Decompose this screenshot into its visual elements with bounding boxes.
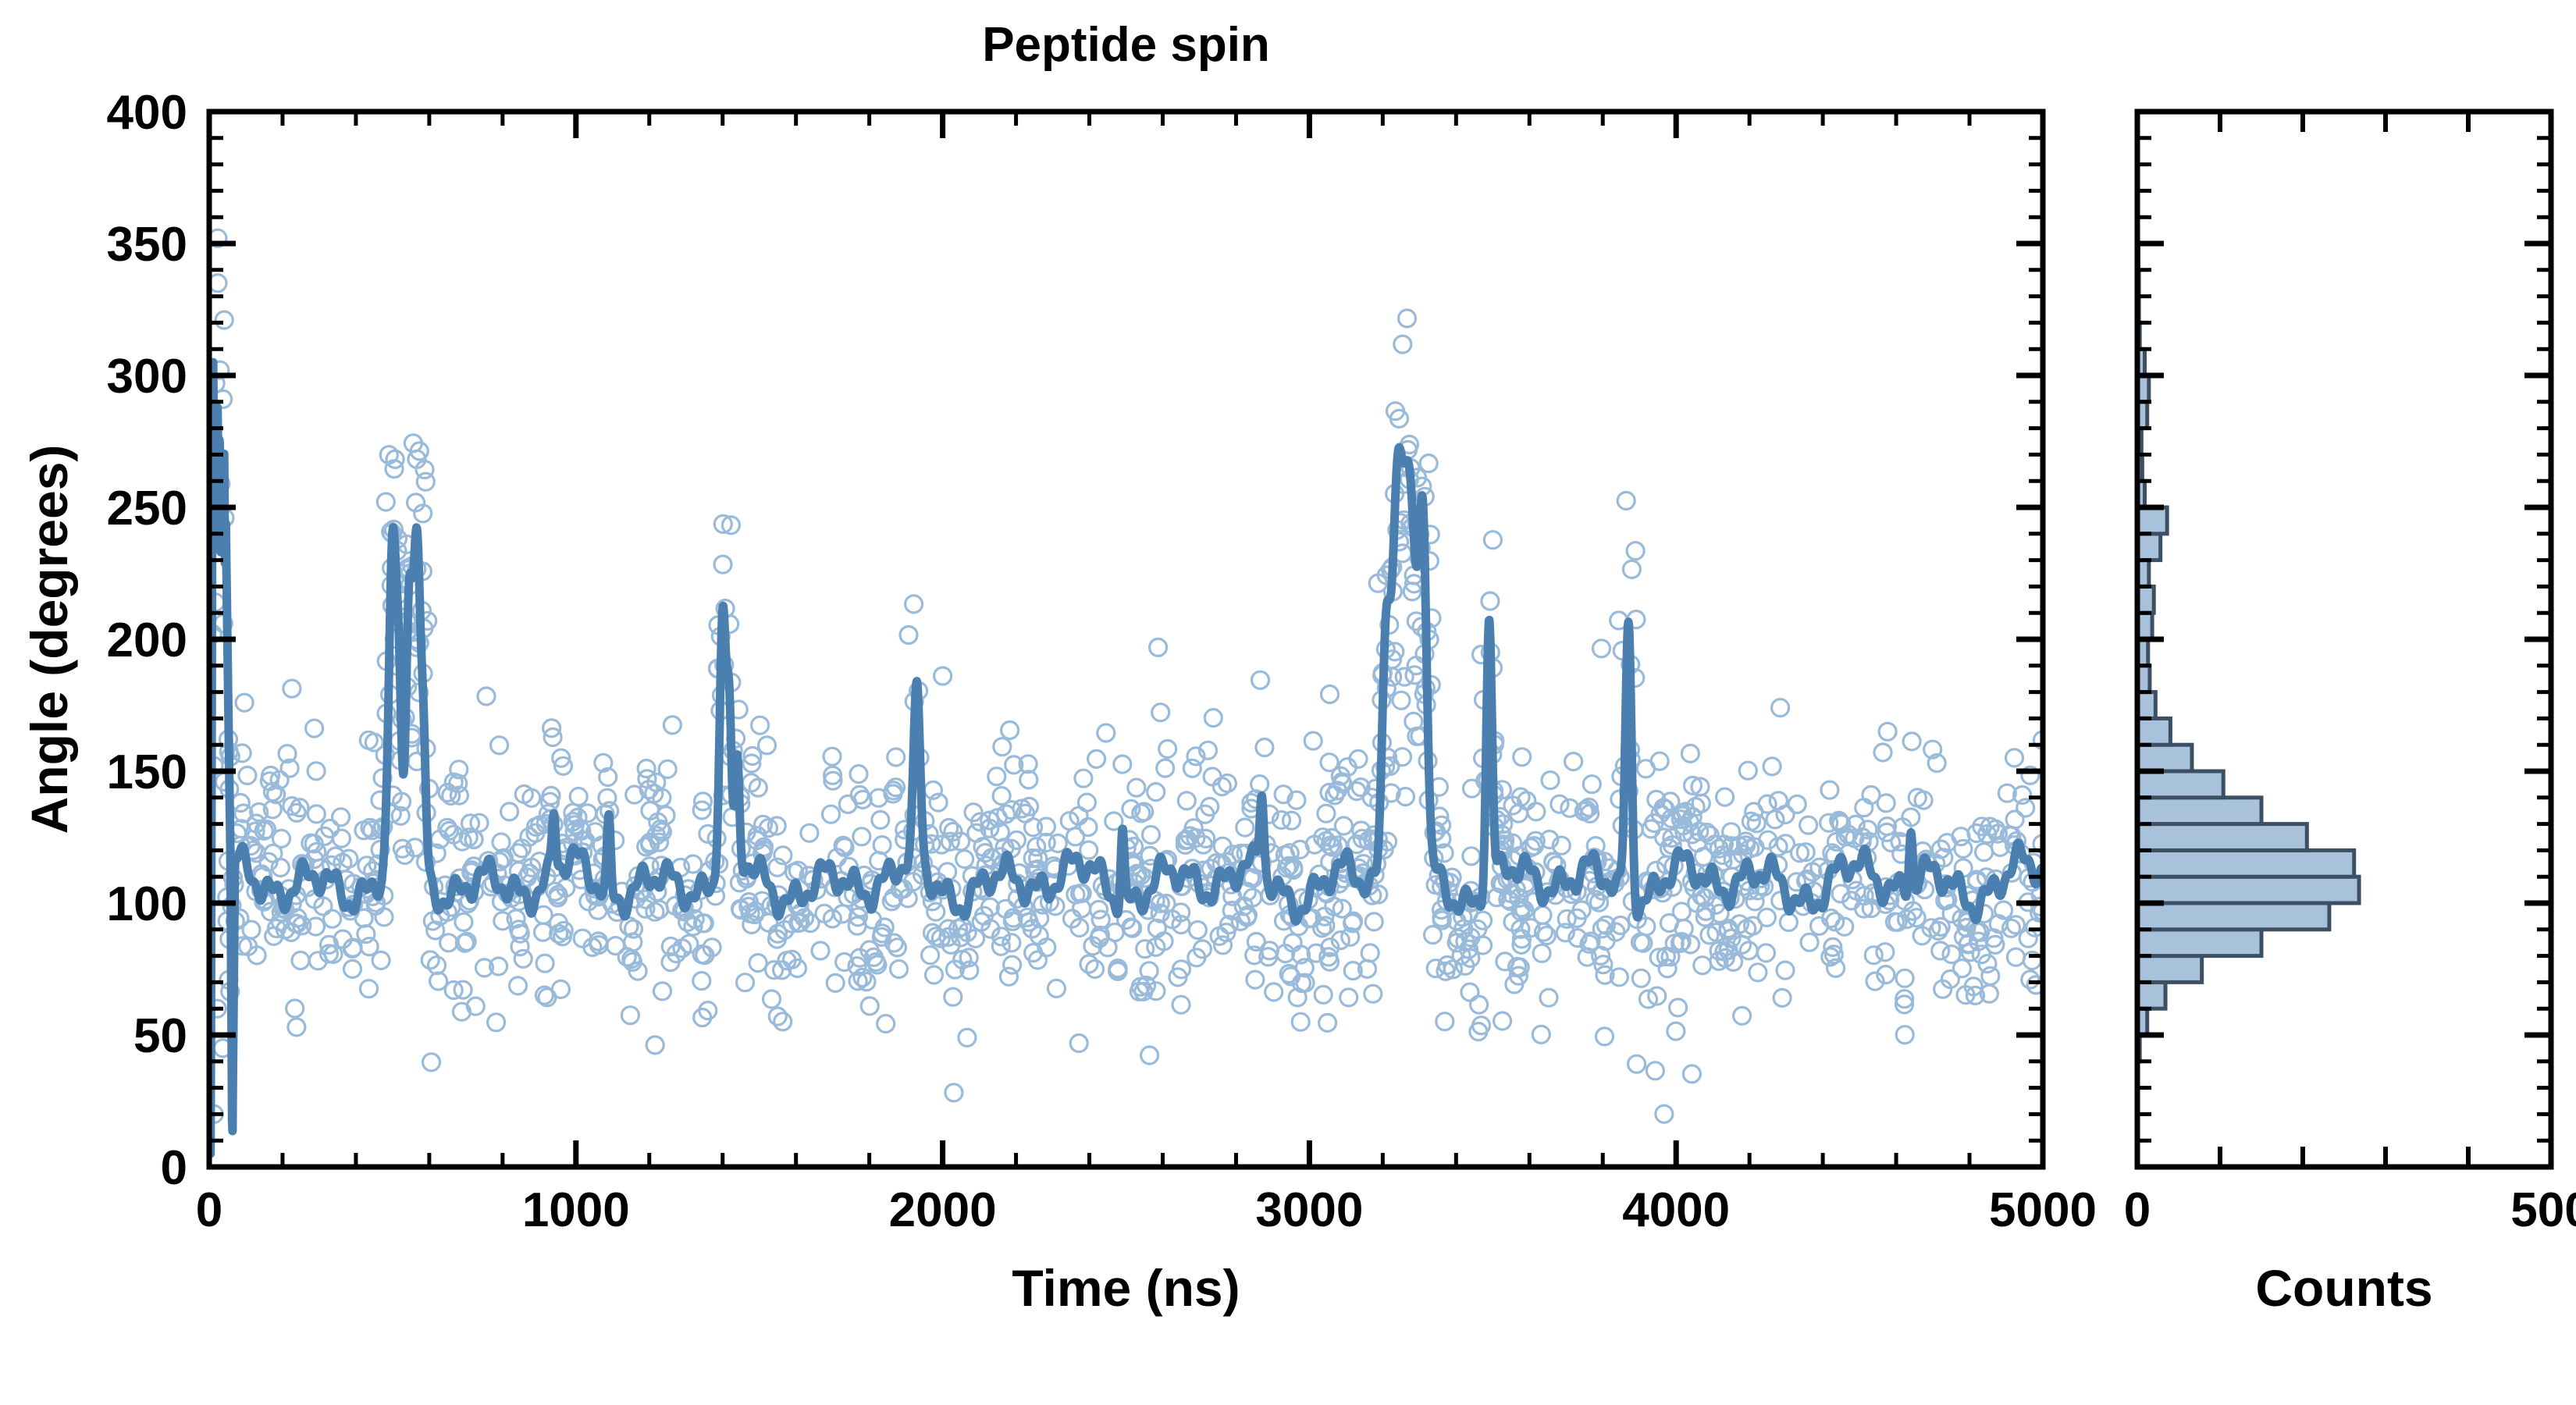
x-tick-label: 2000 — [889, 1183, 997, 1237]
y-tick-label: 200 — [107, 614, 187, 667]
y-tick-label: 100 — [107, 877, 187, 931]
histogram-bar — [2137, 903, 2329, 930]
histogram-bar — [2137, 930, 2261, 956]
histogram-bar — [2137, 534, 2161, 560]
x-tick-label: 4000 — [1622, 1183, 1730, 1237]
histogram-bar — [2137, 798, 2261, 824]
figure-canvas: 0501001502002503003504000100020003000400… — [0, 0, 2576, 1405]
histogram-bar — [2137, 718, 2170, 745]
histogram-bar — [2137, 507, 2167, 534]
y-axis-title: Angle (degrees) — [20, 445, 78, 834]
x-axis-title: Time (ns) — [1012, 1259, 1240, 1317]
peptide-spin-figure: 0501001502002503003504000100020003000400… — [0, 0, 2576, 1405]
x-tick-label: 5000 — [1989, 1183, 2097, 1237]
histogram-bar — [2137, 956, 2202, 983]
hist-x-tick-label: 0 — [2124, 1183, 2151, 1237]
y-tick-label: 250 — [107, 482, 187, 535]
histogram-bar — [2137, 824, 2307, 851]
y-tick-label: 350 — [107, 218, 187, 272]
figure-title: Peptide spin — [982, 18, 1270, 72]
histogram-bar — [2137, 771, 2223, 798]
hist-x-tick-label: 500 — [2510, 1183, 2576, 1237]
y-tick-label: 300 — [107, 350, 187, 404]
histogram-bar — [2137, 877, 2359, 903]
x-tick-label: 1000 — [522, 1183, 630, 1237]
x-tick-label: 3000 — [1255, 1183, 1363, 1237]
y-tick-label: 50 — [133, 1009, 187, 1063]
histogram-bar — [2137, 982, 2165, 1008]
hist-x-axis-title: Counts — [2255, 1259, 2432, 1317]
histogram-bar — [2137, 745, 2192, 771]
y-tick-label: 150 — [107, 745, 187, 799]
y-tick-label: 400 — [107, 86, 187, 140]
x-tick-label: 0 — [196, 1183, 222, 1237]
histogram-bar — [2137, 850, 2354, 877]
y-tick-label: 0 — [161, 1141, 187, 1195]
